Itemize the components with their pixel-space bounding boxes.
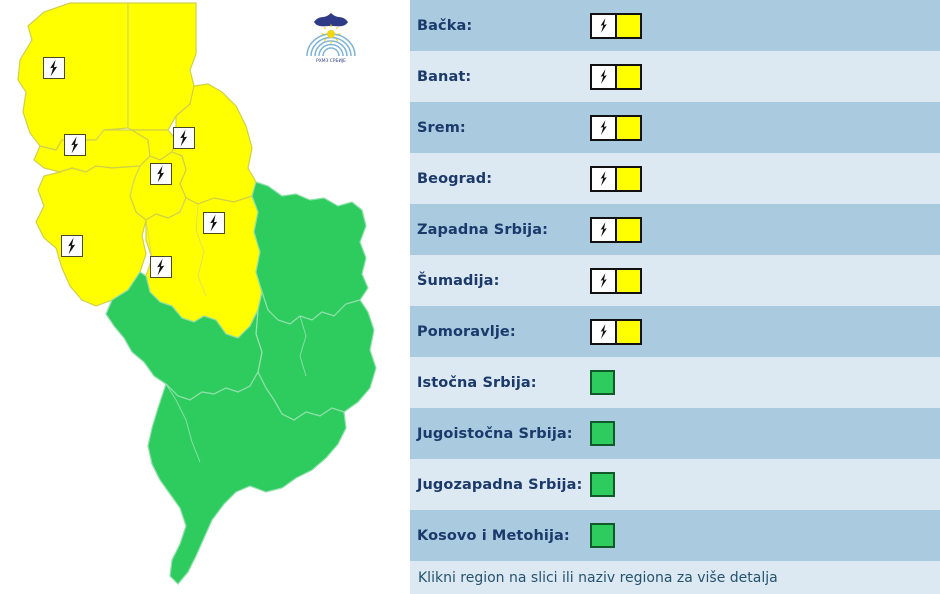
thunderstorm-yellow-pictogram: [590, 217, 642, 243]
region-row-jugozapadna-srbija[interactable]: Jugozapadna Srbija:: [410, 459, 940, 510]
thunderstorm-icon: [590, 166, 616, 192]
map-regions-svg[interactable]: [0, 0, 410, 594]
thunderstorm-icon: [590, 115, 616, 141]
region-label[interactable]: Šumadija:: [417, 273, 587, 289]
map-thunderstorm-icon: [150, 163, 172, 185]
green-level-swatch: [590, 370, 615, 395]
region-label[interactable]: Zapadna Srbija:: [417, 222, 587, 238]
region-warning-icons: [590, 370, 615, 395]
region-warning-icons: [590, 64, 642, 90]
map-region-backa[interactable]: [18, 3, 128, 150]
region-label[interactable]: Jugoistočna Srbija:: [417, 426, 587, 442]
region-warning-icons: [590, 268, 642, 294]
region-warning-list: Bačka: Banat:: [410, 0, 940, 594]
green-level-swatch: [590, 421, 615, 446]
yellow-level-swatch: [616, 13, 642, 39]
map-thunderstorm-icon: [150, 256, 172, 278]
region-row-backa[interactable]: Bačka:: [410, 0, 940, 51]
region-label[interactable]: Beograd:: [417, 171, 587, 187]
rhmz-serbia-logo: РХМЗ СРБИЈЕ: [300, 4, 362, 66]
region-row-zapadna-srbija[interactable]: Zapadna Srbija:: [410, 204, 940, 255]
weather-warning-app: РХМЗ СРБИЈЕ Bačka:: [0, 0, 940, 594]
region-label[interactable]: Istočna Srbija:: [417, 375, 587, 391]
list-footer: Klikni region na slici ili naziv regiona…: [410, 561, 940, 594]
map-thunderstorm-icon: [61, 235, 83, 257]
region-row-jugoistocna-srbija[interactable]: Jugoistočna Srbija:: [410, 408, 940, 459]
map-thunderstorm-icon: [173, 127, 195, 149]
region-warning-icons: [590, 472, 615, 497]
thunderstorm-yellow-pictogram: [590, 166, 642, 192]
thunderstorm-yellow-pictogram: [590, 268, 642, 294]
region-warning-icons: [590, 319, 642, 345]
yellow-level-swatch: [616, 268, 642, 294]
thunderstorm-icon: [590, 319, 616, 345]
region-warning-icons: [590, 115, 642, 141]
region-row-srem[interactable]: Srem:: [410, 102, 940, 153]
thunderstorm-icon: [590, 268, 616, 294]
region-label[interactable]: Jugozapadna Srbija:: [417, 477, 587, 493]
region-warning-icons: [590, 13, 642, 39]
region-label[interactable]: Banat:: [417, 69, 587, 85]
green-level-swatch: [590, 472, 615, 497]
thunderstorm-icon: [590, 217, 616, 243]
region-row-sumadija[interactable]: Šumadija:: [410, 255, 940, 306]
thunderstorm-yellow-pictogram: [590, 13, 642, 39]
yellow-level-swatch: [616, 64, 642, 90]
region-label[interactable]: Kosovo i Metohija:: [417, 528, 587, 544]
region-row-istocna-srbija[interactable]: Istočna Srbija:: [410, 357, 940, 408]
thunderstorm-icon: [590, 64, 616, 90]
region-warning-icons: [590, 421, 615, 446]
yellow-level-swatch: [616, 166, 642, 192]
yellow-level-swatch: [616, 319, 642, 345]
yellow-level-swatch: [616, 115, 642, 141]
thunderstorm-yellow-pictogram: [590, 115, 642, 141]
map-thunderstorm-icon: [64, 134, 86, 156]
region-row-pomoravlje[interactable]: Pomoravlje:: [410, 306, 940, 357]
region-label[interactable]: Bačka:: [417, 18, 587, 34]
map-region-zapadna-srbija[interactable]: [36, 166, 146, 306]
region-warning-icons: [590, 523, 615, 548]
thunderstorm-yellow-pictogram: [590, 64, 642, 90]
thunderstorm-icon: [590, 13, 616, 39]
region-row-kosovo-i-metohija[interactable]: Kosovo i Metohija:: [410, 510, 940, 561]
region-label[interactable]: Pomoravlje:: [417, 324, 587, 340]
map-thunderstorm-icon: [203, 212, 225, 234]
region-row-banat[interactable]: Banat:: [410, 51, 940, 102]
yellow-level-swatch: [616, 217, 642, 243]
region-warning-icons: [590, 217, 642, 243]
logo-caption: РХМЗ СРБИЈЕ: [316, 58, 346, 64]
serbia-warning-map[interactable]: РХМЗ СРБИЈЕ: [0, 0, 410, 594]
region-label[interactable]: Srem:: [417, 120, 587, 136]
footer-hint-text: Klikni region na slici ili naziv regiona…: [418, 570, 778, 586]
thunderstorm-yellow-pictogram: [590, 319, 642, 345]
region-warning-icons: [590, 166, 642, 192]
green-level-swatch: [590, 523, 615, 548]
region-row-beograd[interactable]: Beograd:: [410, 153, 940, 204]
map-thunderstorm-icon: [43, 57, 65, 79]
